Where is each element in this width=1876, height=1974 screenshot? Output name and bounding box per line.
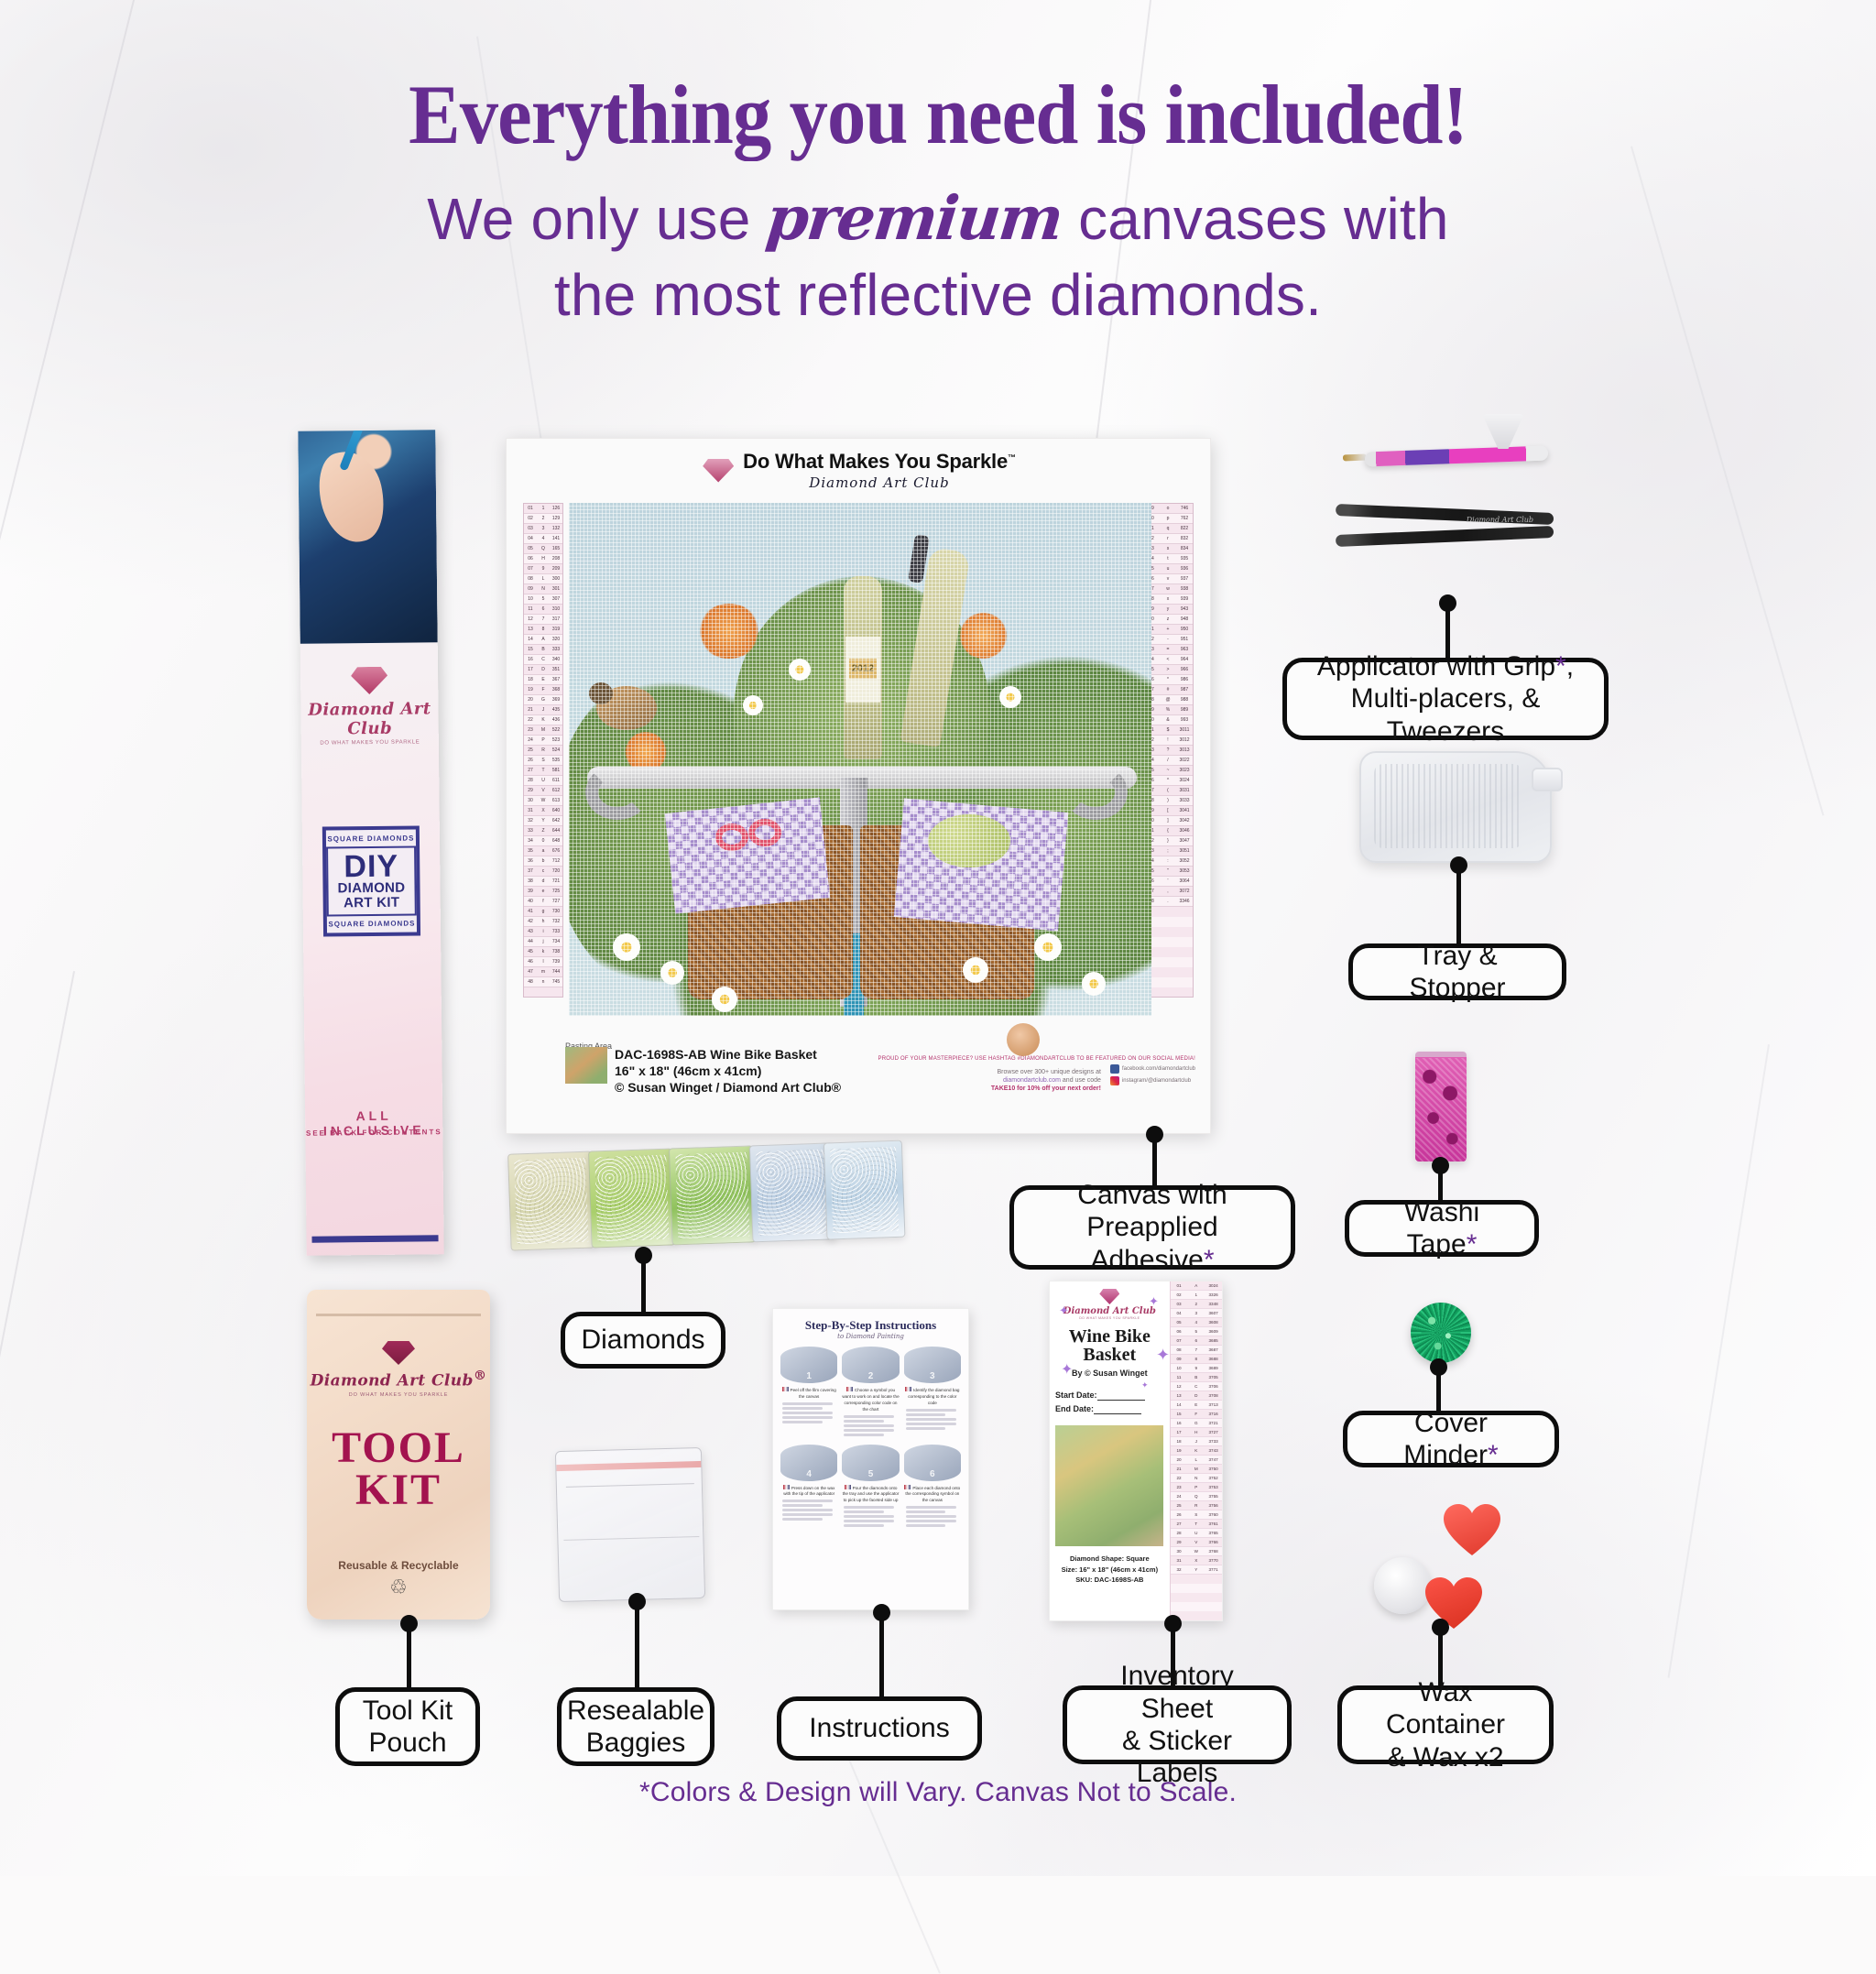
inventory-spec-block: Diamond Shape: Square Size: 16" x 18" (4… <box>1055 1554 1164 1585</box>
subheadline-line-2: the most reflective diamonds. <box>0 261 1876 331</box>
end-date-label: End Date: <box>1055 1404 1094 1413</box>
marble-vein <box>0 971 75 1708</box>
legend-cell: 3 <box>537 526 550 531</box>
legend-cell: 29 <box>524 788 537 793</box>
sticker-cell: 15 <box>1171 1412 1188 1416</box>
legend-cell: 368 <box>550 687 562 693</box>
sticker-cell: F <box>1187 1412 1205 1416</box>
box-brand-tagline: DO WHAT MAKES YOU SPARKLE <box>301 739 439 747</box>
callout-inventory-sheet-label: Inventory Sheet & Sticker Labels <box>1087 1660 1267 1790</box>
sticker-cell: 6 <box>1187 1338 1205 1343</box>
legend-cell: < <box>1160 657 1176 662</box>
start-date-row: Start Date: <box>1055 1389 1164 1402</box>
sticker-cell: 3687 <box>1205 1347 1222 1352</box>
canvas-brand-title: Do What Makes You Sparkle™ <box>743 450 1016 474</box>
box-photo-artwork <box>298 430 437 644</box>
legend-cell: r <box>1160 536 1176 541</box>
sparkle-icon: ✦ <box>1141 1380 1149 1391</box>
hand-illustration <box>311 445 392 548</box>
sticker-label-row: 30W3768 <box>1171 1547 1222 1556</box>
legend-cell: 3064 <box>1176 878 1193 884</box>
legend-cell: 02 <box>524 516 537 521</box>
legend-cell: 727 <box>550 899 562 904</box>
diamond-bag <box>588 1148 676 1248</box>
legend-cell: 3033 <box>1176 798 1193 803</box>
legend-row: 31X640 <box>524 806 562 816</box>
text-line <box>844 1424 894 1427</box>
sticker-label-row: 0763685 <box>1171 1336 1222 1346</box>
legend-cell: 523 <box>550 737 562 743</box>
legend-cell: 3012 <box>1176 737 1193 743</box>
box-sub2-text: ART KIT <box>338 896 406 911</box>
sticker-cell: 14 <box>1171 1402 1188 1407</box>
legend-row: 37c720 <box>524 867 562 877</box>
legend-cell: $ <box>1160 727 1176 733</box>
diamond-icon <box>1099 1289 1119 1304</box>
step-photo: 4 <box>780 1445 837 1481</box>
step-number: 5 <box>868 1469 874 1479</box>
callout-applicator: Applicator with Grip*, Multi-placers, & … <box>1282 658 1609 740</box>
text-line <box>782 1412 833 1414</box>
text-line <box>844 1524 884 1527</box>
legend-cell: W <box>537 798 550 803</box>
callout-canvas-adhesive-label: Canvas with Preapplied Adhesive* <box>1034 1179 1271 1276</box>
instagram-icon <box>1110 1076 1119 1085</box>
canvas-brand-header: Do What Makes You Sparkle™ Diamond Art C… <box>507 450 1212 491</box>
sticker-label-row: 0653609 <box>1171 1327 1222 1336</box>
legend-row: 105307 <box>524 594 562 605</box>
sticker-label-row: 11B3705 <box>1171 1373 1222 1382</box>
inventory-design-preview <box>1055 1425 1163 1546</box>
legend-row: 033132 <box>524 524 562 534</box>
pouch-title: TOOL KIT <box>307 1427 490 1511</box>
diamond-grit <box>830 1147 899 1233</box>
legend-cell: 834 <box>1176 546 1193 551</box>
canvas-promo-line: PROUD OF YOUR MASTERPIECE? USE HASHTAG #… <box>878 1056 1196 1062</box>
legend-cell: c <box>537 868 550 874</box>
legend-cell: 936 <box>1176 566 1193 572</box>
step-number: 3 <box>930 1371 935 1381</box>
legend-cell: 24 <box>524 737 537 743</box>
legend-cell: 6 <box>537 606 550 612</box>
legend-cell: 7 <box>537 616 550 622</box>
legend-cell: 129 <box>550 516 562 521</box>
legend-row: 45k738 <box>524 947 562 957</box>
diamond-grit <box>594 1155 669 1242</box>
sticker-cell: 3326 <box>1205 1292 1222 1297</box>
callout-applicator-label: Applicator with Grip*, Multi-placers, & … <box>1307 650 1584 747</box>
legend-cell: 734 <box>550 939 562 944</box>
subheadline-line-1: We only use premium canvases with <box>0 183 1876 255</box>
instructions-title: Step-By-Step Instructions <box>780 1318 961 1333</box>
legend-cell: 34 <box>524 838 537 844</box>
facebook-row: facebook.com/diamondartclub <box>1110 1064 1195 1074</box>
sticker-cell: 23 <box>1171 1485 1188 1489</box>
text-line <box>906 1427 946 1430</box>
legend-cell: 48 <box>524 979 537 985</box>
sticker-cell: A <box>1187 1283 1205 1288</box>
sticker-cell: P <box>1187 1485 1205 1489</box>
sticker-label-row: 28U3765 <box>1171 1529 1222 1538</box>
sticker-cell: 1 <box>1187 1292 1205 1297</box>
legend-cell: 126 <box>550 506 562 511</box>
sticker-cell: 3713 <box>1205 1402 1222 1407</box>
legend-cell: e <box>537 889 550 894</box>
legend-cell: P <box>537 737 550 743</box>
legend-cell: 725 <box>550 889 562 894</box>
inventory-brand-name: Diamond Art Club <box>1055 1306 1164 1316</box>
legend-cell: 20 <box>524 697 537 703</box>
callout-cover-minder: Cover Minder* <box>1343 1411 1559 1467</box>
legend-cell: { <box>1160 828 1176 834</box>
legend-cell: 07 <box>524 566 537 572</box>
flag-en-icon <box>846 1387 853 1391</box>
sticker-label-row: 16G3721 <box>1171 1419 1222 1428</box>
canvas-pixel-grid <box>569 503 1151 1016</box>
sticker-label-row: 24Q3755 <box>1171 1492 1222 1501</box>
legend-cell: C <box>537 657 550 662</box>
legend-cell: 367 <box>550 677 562 682</box>
sticker-cell: 12 <box>1171 1384 1188 1389</box>
legend-row: 29V612 <box>524 786 562 796</box>
text-line <box>906 1413 946 1416</box>
legend-cell: " <box>1160 868 1176 874</box>
legend-cell: ' <box>1160 878 1176 884</box>
legend-cell: 676 <box>550 848 562 854</box>
facebook-handle: facebook.com/diamondartclub <box>1122 1066 1195 1072</box>
legend-cell: 06 <box>524 556 537 562</box>
leader-dot-tray <box>1456 865 1461 867</box>
tray-stopper <box>1532 768 1563 791</box>
callout-instructions-label: Instructions <box>809 1712 949 1744</box>
sticker-cell: V <box>1187 1540 1205 1544</box>
sticker-cell: X <box>1187 1558 1205 1563</box>
legend-cell: 40 <box>524 899 537 904</box>
legend-cell: L <box>537 576 550 582</box>
diamond-bags-group <box>507 1140 914 1263</box>
sticker-cell: W <box>1187 1549 1205 1554</box>
text-line <box>844 1506 894 1509</box>
callout-tray-stopper-label: Tray & Stopper <box>1373 940 1542 1005</box>
legend-cell: 36 <box>524 858 537 864</box>
legend-cell: s <box>1160 546 1176 551</box>
sticker-cell: 3689 <box>1205 1366 1222 1370</box>
legend-row: 25R524 <box>524 746 562 756</box>
sticker-cell: C <box>1187 1384 1205 1389</box>
legend-cell: 435 <box>550 707 562 713</box>
legend-cell: 640 <box>550 808 562 813</box>
box-diy-text: DIY <box>337 852 405 882</box>
sticker-cell: 02 <box>1171 1292 1188 1297</box>
legend-cell: f <box>537 899 550 904</box>
sticker-cell: 3607 <box>1205 1311 1222 1315</box>
legend-cell: + <box>1160 627 1176 632</box>
legend-cell: 581 <box>550 768 562 773</box>
text-line <box>782 1500 833 1502</box>
legend-cell: 18 <box>524 677 537 682</box>
legend-row: 06H208 <box>524 554 562 564</box>
legend-cell: 11 <box>524 606 537 612</box>
sticker-label-row: 21M3750 <box>1171 1465 1222 1474</box>
legend-cell: 3042 <box>1176 818 1193 823</box>
legend-cell: p <box>1160 516 1176 521</box>
legend-cell: 937 <box>1176 576 1193 582</box>
sticker-label-row: 0983688 <box>1171 1355 1222 1364</box>
resealable-baggies <box>555 1447 705 1602</box>
legend-cell: 3011 <box>1176 727 1193 733</box>
sticker-cell: 3771 <box>1205 1567 1222 1572</box>
inventory-brand-logo: Diamond Art Club DO WHAT MAKES YOU SPARK… <box>1055 1289 1164 1320</box>
step-text-en: Pour the diamonds onto the tray and use … <box>843 1486 900 1503</box>
sticker-cell: 8 <box>1187 1357 1205 1361</box>
sticker-cell: 3608 <box>1205 1320 1222 1325</box>
pouch-title-line-2: KIT <box>307 1469 490 1511</box>
legend-cell: 8 <box>537 627 550 632</box>
legend-cell: 964 <box>1176 657 1193 662</box>
sticker-cell: B <box>1187 1375 1205 1380</box>
legend-cell: 45 <box>524 949 537 954</box>
legend-cell: 613 <box>550 798 562 803</box>
legend-cell: g <box>537 909 550 914</box>
sticker-cell: S <box>1187 1512 1205 1517</box>
legend-cell: 46 <box>524 959 537 965</box>
flag-en-icon <box>783 1485 790 1489</box>
legend-cell: 966 <box>1176 667 1193 672</box>
diamond-painting-canvas: Do What Makes You Sparkle™ Diamond Art C… <box>506 438 1211 1134</box>
legend-cell: 3031 <box>1176 788 1193 793</box>
legend-cell: 10 <box>524 596 537 602</box>
sticker-label-row: 12C3706 <box>1171 1382 1222 1391</box>
box-top-label: SQUARE DIAMONDS <box>327 834 414 844</box>
legend-cell: 986 <box>1176 677 1193 682</box>
sticker-cell: 3761 <box>1205 1521 1222 1526</box>
diamond-tray <box>1359 751 1552 863</box>
inventory-sku: SKU: DAC-1698S-AB <box>1055 1575 1164 1585</box>
instructions-sheet: Step-By-Step Instructions to Diamond Pai… <box>772 1308 969 1610</box>
legend-cell: G <box>537 697 550 703</box>
sticker-label-row: 17H3727 <box>1171 1428 1222 1437</box>
sticker-cell: 07 <box>1171 1338 1188 1343</box>
legend-cell: 522 <box>550 727 562 733</box>
flag-en-icon <box>905 1387 911 1391</box>
sticker-label-row: 31X3770 <box>1171 1556 1222 1565</box>
sticker-cell: 08 <box>1171 1347 1188 1352</box>
step-photo: 3 <box>904 1347 961 1383</box>
legend-cell: [ <box>1160 808 1176 813</box>
callout-resealable-baggies-label: Resealable Baggies <box>567 1695 704 1760</box>
legend-cell: K <box>537 717 550 723</box>
instruction-step: 2 Choose a symbol you want to work on an… <box>842 1347 899 1438</box>
legend-cell: 0 <box>537 838 550 844</box>
legend-cell: 333 <box>550 647 562 652</box>
sticker-cell: 20 <box>1171 1457 1188 1462</box>
legend-cell: 27 <box>524 768 537 773</box>
leader-line-tool-kit <box>407 1623 411 1689</box>
legend-cell: 5 <box>537 596 550 602</box>
step-number: 2 <box>868 1371 874 1381</box>
legend-cell: 3022 <box>1176 758 1193 763</box>
leader-line-diamonds <box>641 1255 646 1315</box>
legend-cell: 987 <box>1176 687 1193 693</box>
tweezers: Diamond Art Club <box>1336 513 1554 544</box>
sticker-cell: 13 <box>1171 1393 1188 1398</box>
sticker-cell: 3770 <box>1205 1558 1222 1563</box>
legend-cell: 3013 <box>1176 747 1193 753</box>
sticker-labels-column: 01A3024021332603233480433607054360806536… <box>1170 1281 1222 1620</box>
instruction-step: 5 Pour the diamonds onto the tray and us… <box>842 1445 899 1530</box>
callout-tool-kit-pouch-label: Tool Kit Pouch <box>363 1695 453 1760</box>
legend-cell: V <box>537 788 550 793</box>
sticker-cell: 3721 <box>1205 1421 1222 1425</box>
legend-row: 40f727 <box>524 897 562 907</box>
callout-washi-tape-label: Washi Tape* <box>1369 1196 1514 1261</box>
tool-kit-pouch: Diamond Art Club® DO WHAT MAKES YOU SPAR… <box>307 1290 490 1620</box>
sticker-cell: 22 <box>1171 1476 1188 1480</box>
diamond-icon <box>382 1341 415 1365</box>
sticker-cell: Y <box>1187 1567 1205 1572</box>
text-line <box>844 1510 884 1513</box>
legend-cell: 822 <box>1176 526 1193 531</box>
start-date-label: Start Date: <box>1055 1391 1097 1400</box>
step-number: 4 <box>806 1469 812 1479</box>
step-text-en: Place each diamond onto the correspondin… <box>905 1486 960 1503</box>
sticker-cell: 3743 <box>1205 1448 1222 1453</box>
sticker-cell: 3733 <box>1205 1439 1222 1444</box>
box-brand-name: Diamond Art Club <box>300 699 438 739</box>
sticker-label-row: 0433607 <box>1171 1309 1222 1318</box>
text-line <box>906 1515 956 1518</box>
start-date-input[interactable] <box>1097 1391 1145 1401</box>
legend-cell: 993 <box>1176 717 1193 723</box>
legend-cell: 369 <box>550 697 562 703</box>
sticker-cell: G <box>1187 1421 1205 1425</box>
sticker-cell: 16 <box>1171 1421 1188 1425</box>
legend-cell: 209 <box>550 566 562 572</box>
callout-cover-minder-label: Cover Minder* <box>1368 1407 1534 1472</box>
legend-cell: 3024 <box>1176 778 1193 783</box>
step-photo: 1 <box>780 1347 837 1383</box>
legend-cell: h <box>537 919 550 924</box>
legend-row: 48n745 <box>524 977 562 987</box>
legend-cell: 746 <box>1176 506 1193 511</box>
legend-cell: 310 <box>550 606 562 612</box>
legend-cell: 30 <box>524 798 537 803</box>
legend-cell: % <box>1160 707 1176 713</box>
legend-cell: 3023 <box>1176 768 1193 773</box>
sticker-cell: 29 <box>1171 1540 1188 1544</box>
sparkle-icon: ✦ <box>1149 1294 1159 1309</box>
legend-row: 011126 <box>524 504 562 514</box>
applicator-pen-tip <box>1343 454 1367 462</box>
legend-cell: 35 <box>524 848 537 854</box>
legend-row: 35a676 <box>524 846 562 856</box>
disclaimer-footnote: *Colors & Design will Vary. Canvas Not t… <box>0 1777 1876 1808</box>
canvas-artwork: 2012 <box>569 503 1151 1016</box>
text-line <box>782 1416 833 1419</box>
legend-cell: i <box>537 929 550 934</box>
sticker-cell: U <box>1187 1531 1205 1535</box>
legend-cell: b <box>537 858 550 864</box>
legend-row: 39e725 <box>524 887 562 897</box>
sticker-cell: 3760 <box>1205 1512 1222 1517</box>
sticker-cell: 28 <box>1171 1531 1188 1535</box>
legend-cell: 317 <box>550 616 562 622</box>
pouch-zipper <box>316 1314 481 1316</box>
instruction-step: 3 Identify the diamond bag corresponding… <box>904 1347 961 1438</box>
legend-cell: n <box>537 979 550 985</box>
sticker-label-row: 32Y3771 <box>1171 1565 1222 1575</box>
sticker-label-row: 20L3747 <box>1171 1456 1222 1465</box>
inventory-date-fields: Start Date: End Date: <box>1055 1389 1164 1417</box>
browse-line-1: Browse over 300+ unique designs at <box>991 1068 1101 1076</box>
legend-row: 28U611 <box>524 776 562 786</box>
legend-cell: 21 <box>524 707 537 713</box>
inventory-size: Size: 16" x 18" (46cm x 41cm) <box>1055 1565 1164 1575</box>
sticker-cell: 3765 <box>1205 1531 1222 1535</box>
legend-cell: 17 <box>524 667 537 672</box>
legend-cell: J <box>537 707 550 713</box>
diamond-grit <box>675 1152 749 1239</box>
legend-row: 41g730 <box>524 907 562 917</box>
legend-cell: 3046 <box>1176 828 1193 834</box>
recycle-icon: ♲ <box>389 1576 408 1599</box>
pouch-brand-tagline: DO WHAT MAKES YOU SPARKLE <box>307 1392 490 1398</box>
pouch-brand-logo: Diamond Art Club® DO WHAT MAKES YOU SPAR… <box>307 1341 490 1398</box>
legend-row: 46l739 <box>524 957 562 967</box>
sticker-cell: E <box>1187 1402 1205 1407</box>
legend-cell: 05 <box>524 546 537 551</box>
leader-line-canvas <box>1152 1134 1157 1185</box>
diy-kit-box: Diamond Art Club DO WHAT MAKES YOU SPARK… <box>298 430 443 1256</box>
instagram-handle: instagram/@diamondartclub <box>1122 1078 1191 1084</box>
end-date-input[interactable] <box>1094 1404 1141 1414</box>
legend-row: 27T581 <box>524 766 562 776</box>
legend-cell: 208 <box>550 556 562 562</box>
legend-cell: 41 <box>524 909 537 914</box>
sticker-cell: 3609 <box>1205 1329 1222 1334</box>
callout-tool-kit-pouch: Tool Kit Pouch <box>335 1687 480 1766</box>
sticker-cell: 9 <box>1187 1366 1205 1370</box>
legend-cell: a <box>537 848 550 854</box>
text-line <box>844 1520 894 1522</box>
legend-cell: > <box>1160 667 1176 672</box>
text-line <box>782 1513 833 1516</box>
legend-cell: ~ <box>1160 768 1176 773</box>
sticker-cell: T <box>1187 1521 1205 1526</box>
step-photo: 2 <box>842 1347 899 1383</box>
legend-cell: & <box>1160 717 1176 723</box>
leader-line-resealable <box>635 1601 639 1689</box>
sticker-cell: 3753 <box>1205 1485 1222 1489</box>
legend-cell: D <box>537 667 550 672</box>
sticker-cell: 4 <box>1187 1320 1205 1325</box>
legend-row: 022129 <box>524 514 562 524</box>
legend-cell: 3346 <box>1176 899 1193 904</box>
legend-cell: / <box>1160 758 1176 763</box>
legend-cell: 2 <box>537 516 550 521</box>
legend-row: 23M522 <box>524 725 562 736</box>
text-line <box>906 1520 956 1522</box>
legend-cell: T <box>537 768 550 773</box>
callout-resealable-baggies: Resealable Baggies <box>557 1687 714 1766</box>
callout-washi-tape: Washi Tape* <box>1345 1200 1539 1257</box>
flag-en-icon <box>782 1387 789 1391</box>
legend-cell: ] <box>1160 818 1176 823</box>
sticker-cell: 3706 <box>1205 1384 1222 1389</box>
sticker-label-row: 25R3756 <box>1171 1501 1222 1510</box>
legend-cell: 32 <box>524 818 537 823</box>
callout-instructions: Instructions <box>777 1696 982 1761</box>
